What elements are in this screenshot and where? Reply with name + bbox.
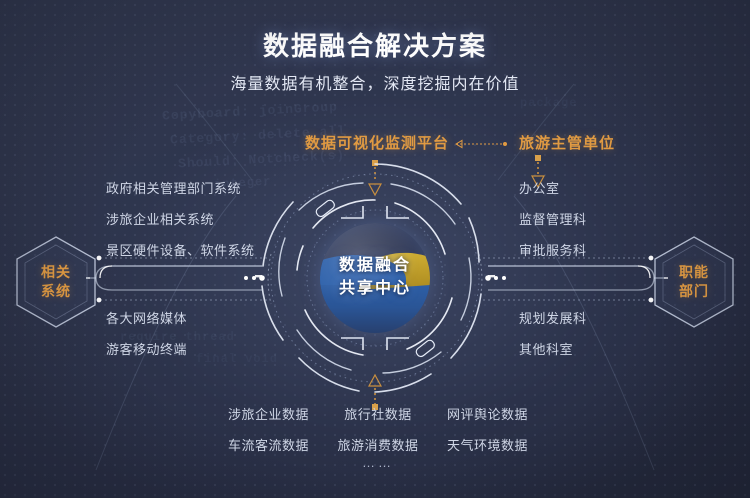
hexagon-left-line2: 系统 bbox=[41, 282, 71, 301]
hexagon-related-systems[interactable]: 相关 系统 bbox=[12, 234, 100, 330]
page-title: 数据融合解决方案 bbox=[0, 26, 750, 63]
page-subtitle: 海量数据有机整合，深度挖掘内在价值 bbox=[0, 70, 750, 94]
list-item[interactable]: 游客移动终端 bbox=[106, 339, 187, 358]
label-visualization-platform: 数据可视化监测平台 bbox=[305, 132, 449, 153]
list-item[interactable]: 涉旅企业相关系统 bbox=[106, 209, 255, 228]
label-tourism-authority: 旅游主管单位 bbox=[519, 132, 615, 153]
infographic-canvas: Copyboard: joinGroup Category: delete al… bbox=[0, 0, 750, 498]
background-code-text: Copyboard: joinGroup bbox=[162, 99, 339, 123]
data-cell[interactable]: 涉旅企业数据 bbox=[228, 404, 324, 423]
list-item[interactable]: 其他科室 bbox=[519, 339, 587, 358]
list-item[interactable]: 景区硬件设备、软件系统 bbox=[106, 240, 255, 259]
list-item[interactable]: 政府相关管理部门系统 bbox=[106, 178, 255, 197]
data-cell[interactable]: 车流客流数据 bbox=[228, 435, 324, 454]
data-row: 涉旅企业数据 旅行社数据 网评舆论数据 bbox=[228, 404, 528, 423]
dotted-arrow-left-icon bbox=[447, 138, 509, 150]
list-item[interactable]: 规划发展科 bbox=[519, 308, 587, 327]
data-cell[interactable]: 旅游消费数据 bbox=[330, 435, 426, 454]
data-row: 车流客流数据 旅游消费数据 天气环境数据 bbox=[228, 435, 528, 454]
left-top-system-list: 政府相关管理部门系统 涉旅企业相关系统 景区硬件设备、软件系统 bbox=[106, 178, 255, 271]
hexagon-functional-departments[interactable]: 职能 部门 bbox=[650, 234, 738, 330]
data-cell[interactable]: 天气环境数据 bbox=[432, 435, 528, 454]
core-label-line1: 数据融合 bbox=[255, 254, 495, 277]
data-ellipsis: …… bbox=[228, 455, 528, 470]
list-item[interactable]: 监督管理科 bbox=[519, 209, 587, 228]
right-top-department-list: 办公室 监督管理科 审批服务科 bbox=[519, 178, 587, 271]
core-label: 数据融合 共享中心 bbox=[255, 254, 495, 300]
data-cell[interactable]: 旅行社数据 bbox=[330, 404, 426, 423]
data-cell[interactable]: 网评舆论数据 bbox=[432, 404, 528, 423]
hexagon-right-line2: 部门 bbox=[679, 282, 709, 301]
list-item[interactable]: 各大网络媒体 bbox=[106, 308, 187, 327]
hexagon-right-label: 职能 部门 bbox=[650, 234, 738, 330]
right-bottom-department-list: 规划发展科 其他科室 bbox=[519, 308, 587, 370]
hexagon-left-line1: 相关 bbox=[41, 263, 71, 282]
left-bottom-system-list: 各大网络媒体 游客移动终端 bbox=[106, 308, 187, 370]
hexagon-right-line1: 职能 bbox=[679, 263, 709, 282]
data-fusion-core[interactable]: 数据融合 共享中心 bbox=[255, 158, 495, 398]
list-item[interactable]: 审批服务科 bbox=[519, 240, 587, 259]
background-code-text: package bbox=[520, 96, 577, 110]
core-label-line2: 共享中心 bbox=[255, 277, 495, 300]
list-item[interactable]: 办公室 bbox=[519, 178, 587, 197]
hexagon-left-label: 相关 系统 bbox=[12, 234, 100, 330]
